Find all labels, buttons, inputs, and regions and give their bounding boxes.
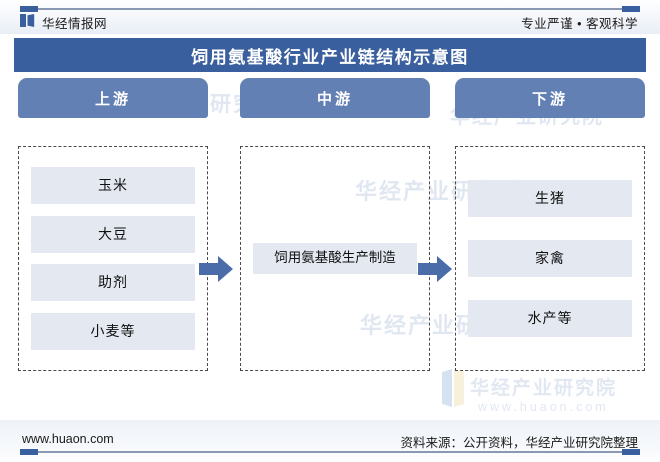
watermark-text: 华经产业研究院 <box>470 373 617 400</box>
column-header-downstream[interactable]: 下游 <box>455 78 645 118</box>
node-item[interactable]: 小麦等 <box>31 313 195 350</box>
supply-chain-diagram: 华经产业研究院 华经产业研究院 华经产业研究院 华经产业研究院 华经产业研究院 … <box>0 78 660 420</box>
footer-source: 资料来源：公开资料，华经产业研究院整理 <box>400 432 638 451</box>
page-title: 饲用氨基酸行业产业链结构示意图 <box>191 43 469 68</box>
watermark-logo-icon <box>440 368 466 408</box>
node-item[interactable]: 玉米 <box>31 167 195 204</box>
column-downstream: 下游 生猪 家禽 水产等 <box>455 78 645 118</box>
column-body-midstream: 饲用氨基酸生产制造 <box>240 146 430 371</box>
column-header-midstream[interactable]: 中游 <box>240 78 430 118</box>
page-footer: www.huaon.com 资料来源：公开资料，华经产业研究院整理 <box>0 420 660 462</box>
book-logo-icon <box>20 14 35 32</box>
node-item[interactable]: 家禽 <box>468 240 632 277</box>
right-arrow-icon <box>418 256 452 282</box>
header-slogan: 专业严谨 • 客观科学 <box>521 13 638 32</box>
column-header-upstream[interactable]: 上游 <box>18 78 208 118</box>
column-body-downstream: 生猪 家禽 水产等 <box>455 146 645 371</box>
watermark-url: www.huaon.com <box>478 400 609 414</box>
column-body-upstream: 玉米 大豆 助剂 小麦等 <box>18 146 208 371</box>
footer-url[interactable]: www.huaon.com <box>22 432 114 446</box>
node-item[interactable]: 饲用氨基酸生产制造 <box>253 243 417 273</box>
column-header-label: 中游 <box>317 88 353 109</box>
right-arrow-icon <box>199 256 233 282</box>
node-item[interactable]: 水产等 <box>468 300 632 337</box>
column-upstream: 上游 玉米 大豆 助剂 小麦等 <box>18 78 208 118</box>
chart-title-bar: 饲用氨基酸行业产业链结构示意图 <box>14 38 646 72</box>
footer-rule <box>20 451 640 453</box>
brand[interactable]: 华经情报网 <box>20 13 107 32</box>
column-header-label: 下游 <box>532 88 568 109</box>
page-header: 华经情报网 专业严谨 • 客观科学 <box>0 0 660 34</box>
node-item[interactable]: 生猪 <box>468 180 632 217</box>
node-item[interactable]: 大豆 <box>31 216 195 253</box>
node-item[interactable]: 助剂 <box>31 264 195 301</box>
brand-name: 华经情报网 <box>42 13 107 32</box>
column-header-label: 上游 <box>95 88 131 109</box>
header-rule <box>20 8 640 10</box>
column-midstream: 中游 饲用氨基酸生产制造 <box>240 78 430 118</box>
